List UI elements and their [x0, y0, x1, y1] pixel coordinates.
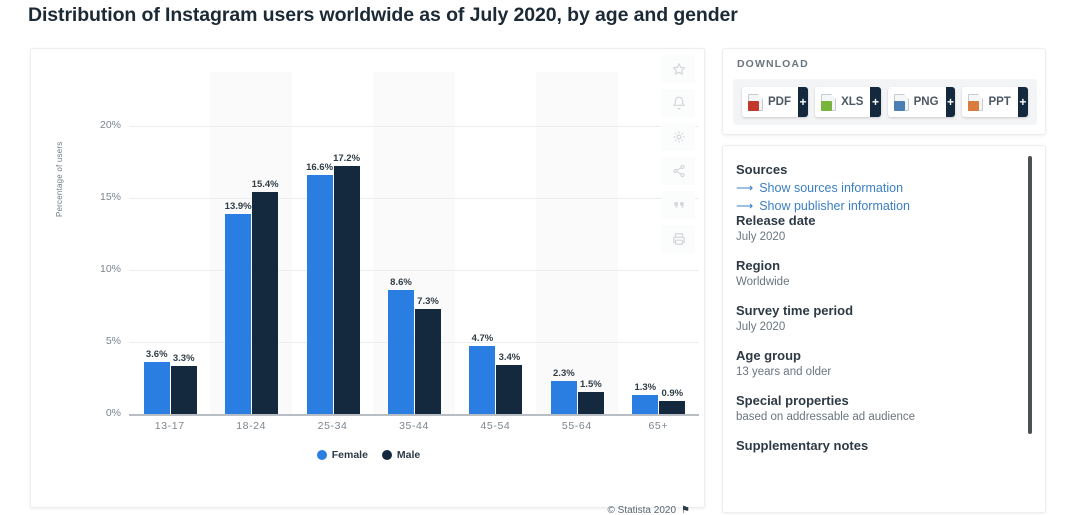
- bar-value-label: 13.9%: [220, 201, 256, 212]
- bar-chart-plot: 0%5%10%15%20%3.6%3.3%13-1713.9%15.4%18-2…: [31, 49, 706, 509]
- pdf-file-icon: [748, 94, 763, 111]
- show-publisher-information-link[interactable]: ⟶ Show publisher information: [736, 199, 1019, 213]
- download-png-button[interactable]: PNG+: [888, 87, 956, 117]
- download-pdf-button[interactable]: PDF+: [742, 87, 808, 117]
- download-button-row: PDF+XLS+PNG+PPT+: [733, 79, 1037, 125]
- download-format-label: PPT: [988, 96, 1010, 108]
- settings-gear-button[interactable]: [662, 123, 695, 151]
- sources-field-label: Release date: [736, 213, 1019, 228]
- gridline: [129, 126, 699, 127]
- settings-gear-icon: [672, 130, 686, 144]
- share-icon: [672, 164, 686, 178]
- x-axis-category-label: 45-54: [455, 420, 536, 432]
- sources-field-value: July 2020: [736, 321, 1019, 333]
- bar-value-label: 3.3%: [166, 353, 202, 364]
- arrow-right-icon: ⟶: [736, 200, 753, 212]
- xls-file-icon: [821, 94, 836, 111]
- legend-label-male: Male: [397, 449, 420, 461]
- download-heading: DOWNLOAD: [737, 58, 809, 70]
- bar-female-25-34[interactable]: [307, 175, 333, 414]
- favorite-star-icon: [672, 62, 686, 76]
- sources-field-label: Survey time period: [736, 303, 1019, 318]
- chart-card: 0%5%10%15%20%3.6%3.3%13-1713.9%15.4%18-2…: [30, 48, 705, 508]
- sources-field-list: Release dateJuly 2020RegionWorldwideSurv…: [736, 213, 1019, 453]
- y-axis-tick-label: 5%: [69, 335, 121, 347]
- notification-bell-button[interactable]: [662, 89, 695, 117]
- citation-quote-icon: [672, 198, 686, 212]
- sources-content: Sources ⟶ Show sources information ⟶ Sho…: [736, 162, 1019, 453]
- y-axis-tick-label: 10%: [69, 263, 121, 275]
- sources-field-value: based on addressable ad audience: [736, 411, 1019, 423]
- x-axis-line: [129, 414, 699, 416]
- bar-value-label: 8.6%: [383, 277, 419, 288]
- gridline: [129, 270, 699, 271]
- favorite-star-button[interactable]: [662, 55, 695, 83]
- bar-male-35-44[interactable]: [415, 309, 441, 414]
- download-ppt-options-button[interactable]: +: [1018, 87, 1028, 117]
- bar-value-label: 15.4%: [247, 179, 283, 190]
- x-axis-category-label: 35-44: [373, 420, 454, 432]
- bar-value-label: 3.4%: [491, 352, 527, 363]
- bar-value-label: 0.9%: [654, 388, 690, 399]
- gridline: [129, 342, 699, 343]
- legend-item-female[interactable]: Female: [317, 449, 368, 461]
- sources-field-label: Supplementary notes: [736, 438, 1019, 453]
- sources-field-label: Age group: [736, 348, 1019, 363]
- copyright: © Statista 2020 ⚑: [608, 505, 691, 515]
- x-axis-category-label: 13-17: [129, 420, 210, 432]
- ppt-file-icon: [968, 94, 983, 111]
- png-file-icon: [894, 94, 909, 111]
- legend-dot-female: [317, 450, 327, 460]
- download-card: DOWNLOAD PDF+XLS+PNG+PPT+: [722, 48, 1046, 135]
- sources-field-label: Special properties: [736, 393, 1019, 408]
- bar-male-45-54[interactable]: [496, 365, 522, 414]
- show-sources-information-label: Show sources information: [759, 181, 903, 195]
- bar-value-label: 2.3%: [546, 368, 582, 379]
- download-xls-button[interactable]: XLS+: [815, 87, 881, 117]
- sources-field-value: Worldwide: [736, 276, 1019, 288]
- plot-band: [536, 72, 617, 414]
- download-pdf-options-button[interactable]: +: [798, 87, 808, 117]
- x-axis-category-label: 65+: [618, 420, 699, 432]
- download-format-label: PDF: [768, 96, 791, 108]
- bar-male-13-17[interactable]: [171, 366, 197, 414]
- copyright-text: © Statista 2020: [608, 505, 677, 515]
- print-button[interactable]: [662, 225, 695, 253]
- share-button[interactable]: [662, 157, 695, 185]
- sources-card: Sources ⟶ Show sources information ⟶ Sho…: [722, 145, 1046, 513]
- bar-female-13-17[interactable]: [144, 362, 170, 414]
- bar-male-65+[interactable]: [659, 401, 685, 414]
- bar-male-55-64[interactable]: [578, 392, 604, 414]
- bar-value-label: 7.3%: [410, 296, 446, 307]
- chart-legend: Female Male: [31, 449, 706, 461]
- download-ppt-button[interactable]: PPT+: [962, 87, 1028, 117]
- show-sources-information-link[interactable]: ⟶ Show sources information: [736, 181, 1019, 195]
- arrow-right-icon: ⟶: [736, 182, 753, 194]
- legend-item-male[interactable]: Male: [382, 449, 420, 461]
- legend-dot-male: [382, 450, 392, 460]
- bar-male-18-24[interactable]: [252, 192, 278, 414]
- bar-value-label: 4.7%: [464, 333, 500, 344]
- bar-value-label: 17.2%: [329, 153, 365, 164]
- sources-field-value: 13 years and older: [736, 366, 1019, 378]
- download-xls-options-button[interactable]: +: [870, 87, 880, 117]
- y-axis-tick-label: 20%: [69, 119, 121, 131]
- bar-female-35-44[interactable]: [388, 290, 414, 414]
- bar-female-18-24[interactable]: [225, 214, 251, 414]
- x-axis-category-label: 18-24: [210, 420, 291, 432]
- download-format-label: PNG: [914, 96, 939, 108]
- flag-icon[interactable]: ⚑: [681, 505, 690, 515]
- page-title: Distribution of Instagram users worldwid…: [28, 4, 738, 27]
- y-axis-title: Percentage of users: [55, 97, 64, 217]
- bar-value-label: 1.5%: [573, 379, 609, 390]
- download-format-label: XLS: [841, 96, 863, 108]
- sources-field-label: Region: [736, 258, 1019, 273]
- gridline: [129, 198, 699, 199]
- x-axis-category-label: 55-64: [536, 420, 617, 432]
- show-publisher-information-label: Show publisher information: [759, 199, 910, 213]
- statista-chart-page: Distribution of Instagram users worldwid…: [0, 0, 1080, 515]
- x-axis-category-label: 25-34: [292, 420, 373, 432]
- chart-tool-rail: [662, 55, 695, 253]
- sources-heading: Sources: [736, 162, 1019, 177]
- notification-bell-icon: [672, 96, 686, 110]
- print-icon: [672, 232, 686, 246]
- y-axis-tick-label: 15%: [69, 191, 121, 203]
- sources-field-value: July 2020: [736, 231, 1019, 243]
- bar-male-25-34[interactable]: [334, 166, 360, 414]
- y-axis-tick-label: 0%: [69, 407, 121, 419]
- sources-scrollbar-thumb[interactable]: [1028, 156, 1032, 434]
- legend-label-female: Female: [332, 449, 368, 461]
- citation-quote-button[interactable]: [662, 191, 695, 219]
- download-png-options-button[interactable]: +: [946, 87, 956, 117]
